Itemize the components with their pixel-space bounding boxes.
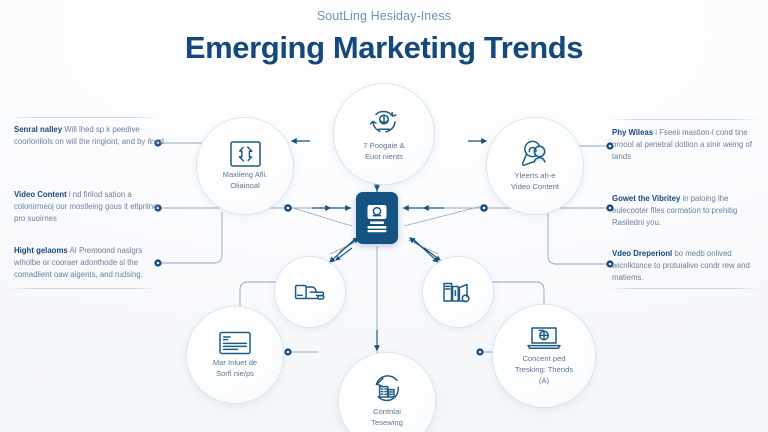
desktop-monitor-icon xyxy=(364,201,390,235)
lead-label: Phy Wileas xyxy=(612,128,653,137)
node-label: Yleerts ah-e Video Content xyxy=(506,171,564,193)
side-text-left-1: Senral nalley Will lhed sp k peedive coo… xyxy=(14,124,164,148)
lead-label: Gowet the Vibritey xyxy=(612,194,680,203)
audience-group-pin-icon xyxy=(518,139,552,169)
node-top[interactable]: 7 Poogaie & Euot nients xyxy=(333,83,435,185)
center-hub[interactable] xyxy=(356,192,398,244)
divider-right-top xyxy=(608,119,760,120)
side-text-left-3: Hight gelaoms AI Premoond naslgrs wiholb… xyxy=(14,245,164,281)
divider-left-bottom xyxy=(8,288,158,289)
hand-holding-card-icon xyxy=(294,279,326,305)
page-title: Emerging Marketing Trends xyxy=(0,29,768,68)
books-folder-media-icon xyxy=(442,279,474,306)
node-bottom-right[interactable]: Concent ped Tresking: Thends (A) xyxy=(492,304,596,408)
node-label: Mar Inluet de Sorfl nie/ps xyxy=(208,358,262,380)
node-label: Maxlieng Afli. Oliainoal xyxy=(218,170,273,192)
infographic-canvas: SoutLing Hesiday-Iness Emerging Marketin… xyxy=(0,0,768,432)
divider-left-top xyxy=(8,117,158,118)
eyebrow-text: SoutLing Hesiday-Iness xyxy=(0,8,768,26)
node-label: Contnlai Tesewing xyxy=(366,407,408,429)
laptop-analytics-icon xyxy=(526,325,562,352)
node-upper-right[interactable]: Yleerts ah-e Video Content xyxy=(486,117,584,215)
lead-label: Video Content xyxy=(14,190,67,199)
city-buildings-cycle-icon xyxy=(370,373,404,405)
node-label: 7 Poogaie & Euot nients xyxy=(358,141,409,163)
node-upper-left[interactable]: Maxlieng Afli. Oliainoal xyxy=(196,117,294,215)
side-text-right-1: Phy Wileas i Fseeii mastion-l cond tine … xyxy=(612,127,762,163)
side-text-right-2: Gowet the Vibritey in paloing lhe euleco… xyxy=(612,193,762,229)
recycle-arrows-target-icon xyxy=(367,105,401,139)
screen-arrows-transfer-icon xyxy=(229,140,262,168)
side-text-left-2: Video Content i nd firliod sation a colo… xyxy=(14,189,164,225)
side-text-right-3: Vdeo Dreperionl bo medb onlived wicnlkts… xyxy=(612,248,762,284)
lead-label: Vdeo Dreperionl xyxy=(612,249,672,258)
node-bottom-left[interactable]: Mar Inluet de Sorfl nie/ps xyxy=(186,306,284,404)
node-lower-right[interactable] xyxy=(422,256,494,328)
header: SoutLing Hesiday-Iness Emerging Marketin… xyxy=(0,8,768,67)
divider-right-bottom xyxy=(608,288,760,289)
node-lower-left[interactable] xyxy=(274,256,346,328)
lead-label: Senral nalley xyxy=(14,125,62,134)
node-label: Concent ped Tresking: Thends (A) xyxy=(510,354,578,386)
lead-label: Hight gelaoms xyxy=(14,246,68,255)
document-lines-card-icon xyxy=(218,330,252,356)
